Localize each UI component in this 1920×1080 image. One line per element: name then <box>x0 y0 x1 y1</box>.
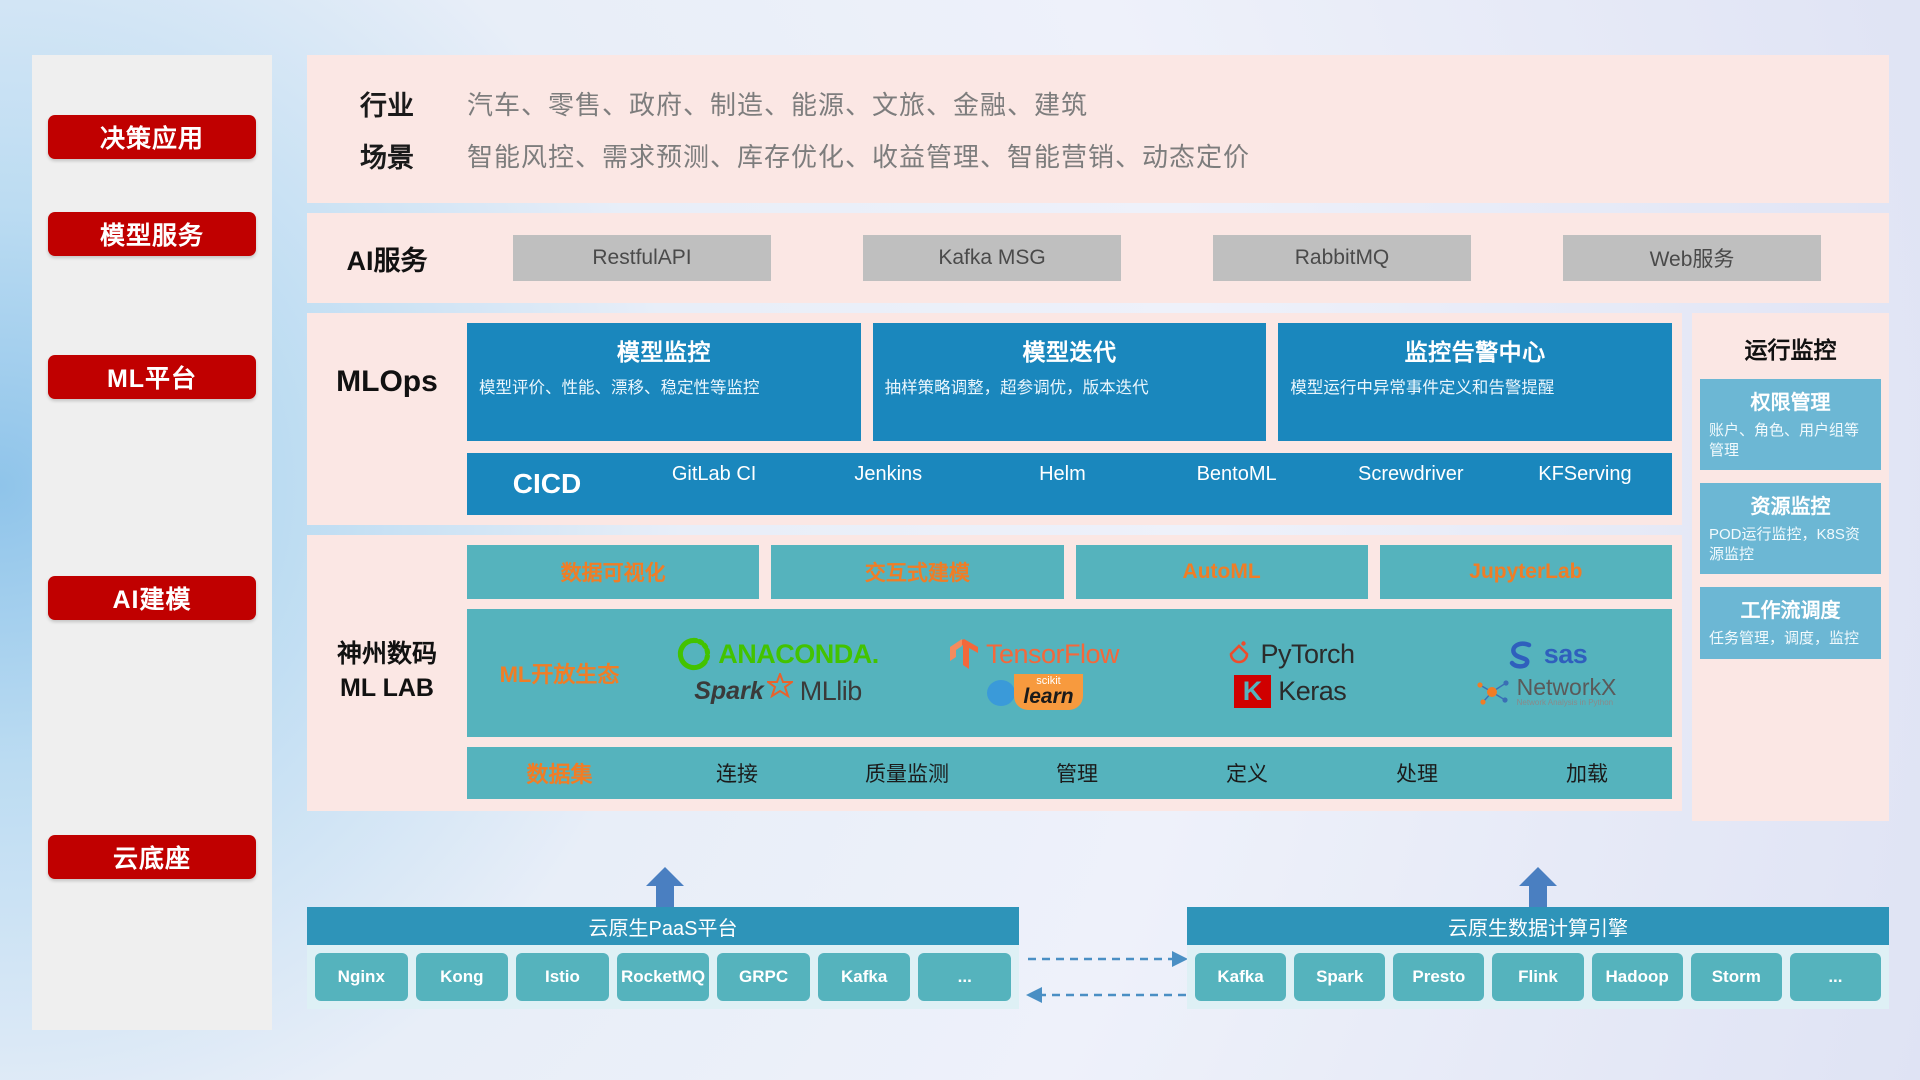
layer-legend-sidebar: 决策应用 模型服务 ML平台 AI建模 云底座 <box>32 55 272 1030</box>
ai-service-label: AI服务 <box>307 239 467 278</box>
monitor-card-permission[interactable]: 权限管理 账户、角色、用户组等管理 <box>1700 379 1881 470</box>
chip-label: Web服务 <box>1650 243 1735 273</box>
chip-label: JupyterLab <box>1469 560 1582 584</box>
networkx-logo: NetworkX Network Analysis in Python <box>1476 676 1617 707</box>
ai-service-chip-restfulapi[interactable]: RestfulAPI <box>513 235 771 281</box>
tool-chip-automl[interactable]: AutoML <box>1076 545 1368 599</box>
paas-chip-istio[interactable]: Istio <box>516 953 609 1001</box>
paas-title: 云原生PaaS平台 <box>307 907 1019 945</box>
runtime-monitor-column: 运行监控 权限管理 账户、角色、用户组等管理 资源监控 POD运行监控，K8S资… <box>1692 313 1889 821</box>
sidebar-item-label: 云底座 <box>113 839 191 875</box>
cicd-item-bentoml[interactable]: BentoML <box>1150 461 1324 507</box>
decision-apps-band: 行业 汽车、零售、政府、制造、能源、文旅、金融、建筑 场景 智能风控、需求预测、… <box>307 55 1889 203</box>
sidebar-item-ai-modeling[interactable]: AI建模 <box>48 576 256 620</box>
mlops-card-model-iteration[interactable]: 模型迭代 抽样策略调整，超参调优，版本迭代 <box>873 323 1267 441</box>
keras-k-icon: K <box>1234 675 1272 708</box>
card-title: 资源监控 <box>1709 490 1872 519</box>
paas-chip-rocketmq[interactable]: RocketMQ <box>617 953 710 1001</box>
cicd-item-gitlab-ci[interactable]: GitLab CI <box>627 461 801 507</box>
scenario-value: 智能风控、需求预测、库存优化、收益管理、智能营销、动态定价 <box>467 137 1250 174</box>
architecture-diagram: 决策应用 模型服务 ML平台 AI建模 云底座 行业 汽车、零售、政府、制造、能… <box>0 0 1920 1080</box>
card-desc: 模型运行中异常事件定义和告警提醒 <box>1290 377 1660 399</box>
card-title: 工作流调度 <box>1709 594 1872 623</box>
mlops-label: MLOps <box>307 323 467 441</box>
industry-label: 行业 <box>307 84 467 123</box>
ml-lab-label-line1: 神州数码 <box>337 638 437 672</box>
card-desc: 账户、角色、用户组等管理 <box>1709 421 1872 460</box>
card-title: 监控告警中心 <box>1290 333 1660 367</box>
arrow-head-left <box>1026 987 1042 1003</box>
compute-chip-storm[interactable]: Storm <box>1691 953 1782 1001</box>
chip-label: RestfulAPI <box>592 246 691 270</box>
mlops-card-alert-center[interactable]: 监控告警中心 模型运行中异常事件定义和告警提醒 <box>1278 323 1672 441</box>
ai-service-band: AI服务 RestfulAPI Kafka MSG RabbitMQ Web服务 <box>307 213 1889 303</box>
paas-chip-nginx[interactable]: Nginx <box>315 953 408 1001</box>
card-desc: POD运行监控，K8S资源监控 <box>1709 525 1872 564</box>
card-desc: 模型评价、性能、漂移、稳定性等监控 <box>479 377 849 399</box>
main-layers: 行业 汽车、零售、政府、制造、能源、文旅、金融、建筑 场景 智能风控、需求预测、… <box>307 55 1889 831</box>
sidebar-item-cloud-base[interactable]: 云底座 <box>48 835 256 879</box>
card-title: 模型迭代 <box>885 333 1255 367</box>
cicd-item-screwdriver[interactable]: Screwdriver <box>1324 461 1498 507</box>
chip-label: 交互式建模 <box>865 557 970 587</box>
ml-lab-label: 神州数码 ML LAB <box>307 545 467 799</box>
networkx-text: NetworkX <box>1517 676 1617 699</box>
card-title: 模型监控 <box>479 333 849 367</box>
industry-row: 行业 汽车、零售、政府、制造、能源、文旅、金融、建筑 <box>307 77 1889 129</box>
compute-chip-kafka[interactable]: Kafka <box>1195 953 1286 1001</box>
dataset-item-load[interactable]: 加载 <box>1502 758 1672 788</box>
tensorflow-logo: TensorFlow <box>949 637 1119 671</box>
pytorch-logo: PyTorch <box>1225 638 1354 670</box>
paas-chip-more[interactable]: ... <box>918 953 1011 1001</box>
networkx-icon <box>1476 677 1510 707</box>
cicd-item-kfserving[interactable]: KFServing <box>1498 461 1672 507</box>
tool-chip-data-visualization[interactable]: 数据可视化 <box>467 545 759 599</box>
data-compute-engine: 云原生数据计算引擎 Kafka Spark Presto Flink Hadoo… <box>1187 907 1889 1009</box>
sidebar-item-label: ML平台 <box>107 359 197 395</box>
sidebar-item-label: AI建模 <box>112 580 191 616</box>
industry-value: 汽车、零售、政府、制造、能源、文旅、金融、建筑 <box>467 85 1088 122</box>
tensorflow-icon <box>949 637 979 671</box>
ml-ecosystem-box: ML开放生态 ANACONDA. <box>467 609 1672 737</box>
sidebar-item-ml-platform[interactable]: ML平台 <box>48 355 256 399</box>
cicd-item-helm[interactable]: Helm <box>975 461 1149 507</box>
paas-chip-kong[interactable]: Kong <box>416 953 509 1001</box>
ai-service-chip-kafka-msg[interactable]: Kafka MSG <box>863 235 1121 281</box>
compute-chip-more[interactable]: ... <box>1790 953 1881 1001</box>
learn-text: learn <box>1023 687 1073 707</box>
keras-text: Keras <box>1278 676 1346 707</box>
compute-chip-spark[interactable]: Spark <box>1294 953 1385 1001</box>
cicd-title: CICD <box>467 468 627 500</box>
pytorch-icon <box>1225 638 1253 670</box>
paas-platform: 云原生PaaS平台 Nginx Kong Istio RocketMQ GRPC… <box>307 907 1019 1009</box>
anaconda-text: ANACONDA. <box>718 639 879 670</box>
dataset-item-define[interactable]: 定义 <box>1162 758 1332 788</box>
dataset-row: 数据集 连接 质量监测 管理 定义 处理 加载 <box>467 747 1672 799</box>
dataset-item-process[interactable]: 处理 <box>1332 758 1502 788</box>
card-desc: 抽样策略调整，超参调优，版本迭代 <box>885 377 1255 399</box>
compute-chip-flink[interactable]: Flink <box>1492 953 1583 1001</box>
compute-chip-presto[interactable]: Presto <box>1393 953 1484 1001</box>
cicd-item-jenkins[interactable]: Jenkins <box>801 461 975 507</box>
modeling-tool-row: 数据可视化 交互式建模 AutoML JupyterLab <box>467 545 1672 599</box>
sas-icon <box>1505 639 1537 669</box>
ai-service-chip-rabbitmq[interactable]: RabbitMQ <box>1213 235 1471 281</box>
sidebar-item-decision-apps[interactable]: 决策应用 <box>48 115 256 159</box>
scenario-label: 场景 <box>307 136 467 175</box>
keras-logo: K Keras <box>1234 675 1347 708</box>
mlops-band: MLOps 模型监控 模型评价、性能、漂移、稳定性等监控 模型迭代 抽样策略调整… <box>307 313 1682 525</box>
sas-text: sas <box>1544 639 1588 670</box>
cloud-foundation: 云原生PaaS平台 Nginx Kong Istio RocketMQ GRPC… <box>307 895 1889 1045</box>
runtime-monitor-title: 运行监控 <box>1700 331 1881 365</box>
ai-service-chip-web-service[interactable]: Web服务 <box>1563 235 1821 281</box>
dataset-item-quality[interactable]: 质量监测 <box>822 758 992 788</box>
card-title: 权限管理 <box>1709 386 1872 415</box>
chip-label: Kafka MSG <box>938 246 1045 270</box>
monitor-card-resource[interactable]: 资源监控 POD运行监控，K8S资源监控 <box>1700 483 1881 574</box>
tool-chip-jupyterlab[interactable]: JupyterLab <box>1380 545 1672 599</box>
monitor-card-workflow[interactable]: 工作流调度 任务管理，调度，监控 <box>1700 587 1881 659</box>
paas-up-arrow <box>644 867 686 907</box>
bidirectional-link-arrows <box>1022 943 1192 1013</box>
anaconda-logo: ANACONDA. <box>677 637 879 671</box>
tool-chip-interactive-modeling[interactable]: 交互式建模 <box>771 545 1063 599</box>
scikit-learn-badge: scikit learn <box>1014 674 1082 710</box>
anaconda-icon <box>677 637 711 671</box>
chip-label: RabbitMQ <box>1295 246 1390 270</box>
ai-modeling-band: 神州数码 ML LAB 数据可视化 交互式建模 AutoML JupyterLa… <box>307 535 1682 811</box>
scikit-learn-logo: scikit learn <box>985 674 1082 710</box>
sidebar-item-model-service[interactable]: 模型服务 <box>48 212 256 256</box>
pytorch-text: PyTorch <box>1260 639 1354 670</box>
spark-star-icon <box>767 673 793 699</box>
ml-ecosystem-label: ML开放生态 <box>467 657 652 689</box>
compute-up-arrow <box>1517 867 1559 907</box>
paas-chip-kafka[interactable]: Kafka <box>818 953 911 1001</box>
platform-and-monitor-row: MLOps 模型监控 模型评价、性能、漂移、稳定性等监控 模型迭代 抽样策略调整… <box>307 313 1889 821</box>
paas-chip-grpc[interactable]: GRPC <box>717 953 810 1001</box>
compute-title: 云原生数据计算引擎 <box>1187 907 1889 945</box>
scenario-row: 场景 智能风控、需求预测、库存优化、收益管理、智能营销、动态定价 <box>307 129 1889 181</box>
dataset-label: 数据集 <box>467 757 652 789</box>
cicd-bar: CICD GitLab CI Jenkins Helm BentoML Scre… <box>467 453 1672 515</box>
sidebar-item-label: 决策应用 <box>100 119 204 155</box>
ml-lab-label-line2: ML LAB <box>340 672 434 706</box>
mllib-text: MLlib <box>800 676 862 707</box>
dataset-item-connect[interactable]: 连接 <box>652 758 822 788</box>
arrow-head-right <box>1172 951 1188 967</box>
chip-label: AutoML <box>1183 560 1261 584</box>
networkx-tagline: Network Analysis in Python <box>1517 699 1617 707</box>
compute-chip-hadoop[interactable]: Hadoop <box>1592 953 1683 1001</box>
dataset-item-manage[interactable]: 管理 <box>992 758 1162 788</box>
spark-mllib-logo: Spark MLlib <box>694 676 862 707</box>
spark-wordmark: Spark <box>694 677 763 706</box>
sas-logo: sas <box>1505 639 1588 670</box>
mlops-card-model-monitoring[interactable]: 模型监控 模型评价、性能、漂移、稳定性等监控 <box>467 323 861 441</box>
card-desc: 任务管理，调度，监控 <box>1709 629 1872 649</box>
chip-label: 数据可视化 <box>561 557 666 587</box>
sidebar-item-label: 模型服务 <box>100 216 204 252</box>
tensorflow-text: TensorFlow <box>986 639 1119 670</box>
